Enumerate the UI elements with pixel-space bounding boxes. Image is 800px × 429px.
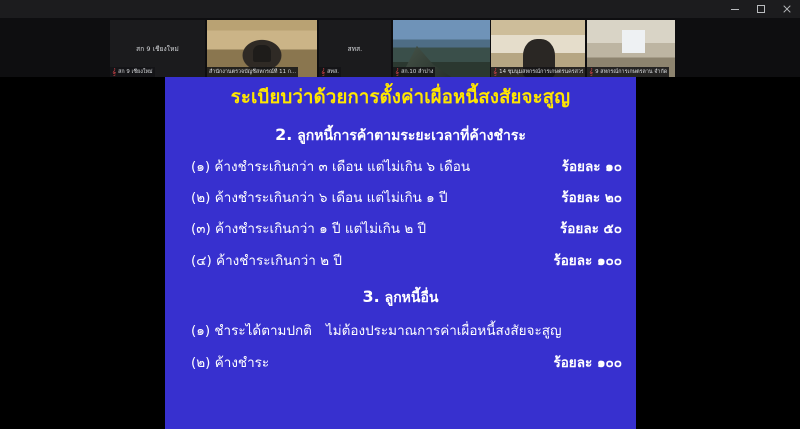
- mic-muted-icon: 𝄞: [589, 69, 593, 76]
- section-heading-text: ลูกหนี้อื่น: [385, 290, 439, 306]
- section-number: 3.: [363, 287, 380, 306]
- participant-tile[interactable]: สก 9 เชียงใหม่ 𝄞 สก 9 เชียงใหม่: [110, 20, 205, 77]
- minimize-icon[interactable]: [722, 0, 748, 18]
- presentation-slide: ระเบียบว่าด้วยการตั้งค่าเผื่อหนี้สงสัยจะ…: [165, 77, 636, 429]
- mic-muted-icon: 𝄞: [493, 69, 497, 76]
- item-rate: ร้อยละ ๑๐: [562, 159, 622, 175]
- participant-name-badge: 𝄞 สก.10 ลำปาง: [393, 67, 435, 77]
- section-number: 2.: [275, 125, 292, 144]
- participant-display-name: สทส.: [348, 44, 363, 54]
- mic-muted-icon: 𝄞: [321, 69, 325, 76]
- participant-name-badge: 𝄞 9 สหกรณ์การเกษตรลาน จำกัด: [587, 67, 669, 77]
- participant-tile[interactable]: 𝄞 9 สหกรณ์การเกษตรลาน จำกัด: [587, 20, 675, 77]
- participant-name-badge: 𝄞 สก 9 เชียงใหม่: [110, 67, 155, 77]
- slide-list-item: (๑) ชำระได้ตามปกติ ไม่ต้องประมาณการค่าเผ…: [165, 323, 636, 339]
- participant-name-badge: 𝄞 14 ชุมนุมสหกรณ์การเกษตรนครสวรรค์: [491, 67, 585, 77]
- section-heading-text: ลูกหนี้การค้าตามระยะเวลาที่ค้างชำระ: [297, 128, 526, 144]
- shared-screen-stage: ระเบียบว่าด้วยการตั้งค่าเผื่อหนี้สงสัยจะ…: [0, 77, 800, 429]
- close-icon[interactable]: [774, 0, 800, 18]
- participant-name-badge: สำนักงานตรวจบัญชีสหกรณ์ที่ 11 ก...: [207, 67, 298, 77]
- slide-list-item: (๓) ค้างชำระเกินกว่า ๑ ปี แต่ไม่เกิน ๒ ป…: [165, 221, 636, 237]
- slide-section-body: (๑) ชำระได้ตามปกติ ไม่ต้องประมาณการค่าเผ…: [165, 323, 636, 371]
- mic-muted-icon: 𝄞: [395, 69, 399, 76]
- slide-list-item: (๒) ค้างชำระ ร้อยละ ๑๐๐: [165, 355, 636, 371]
- slide-title: ระเบียบว่าด้วยการตั้งค่าเผื่อหนี้สงสัยจะ…: [165, 87, 636, 108]
- participant-name-badge: 𝄞 สทส.: [319, 67, 341, 77]
- participant-label: สก 9 เชียงใหม่: [118, 68, 152, 76]
- participant-label: สำนักงานตรวจบัญชีสหกรณ์ที่ 11 ก...: [209, 68, 296, 76]
- slide-section-heading: 3. ลูกหนี้อื่น: [165, 287, 636, 307]
- slide-list-item: (๒) ค้างชำระเกินกว่า ๖ เดือน แต่ไม่เกิน …: [165, 190, 636, 206]
- participant-label: 9 สหกรณ์การเกษตรลาน จำกัด: [595, 68, 667, 76]
- mic-muted-icon: 𝄞: [112, 69, 116, 76]
- window-titlebar: [0, 0, 800, 18]
- participant-tile[interactable]: 𝄞 14 ชุมนุมสหกรณ์การเกษตรนครสวรรค์: [491, 20, 585, 77]
- item-rate: ร้อยละ ๑๐๐: [553, 253, 622, 269]
- participant-tile-active-speaker[interactable]: สำนักงานตรวจบัญชีสหกรณ์ที่ 11 ก...: [207, 20, 317, 77]
- participant-label: 14 ชุมนุมสหกรณ์การเกษตรนครสวรรค์: [499, 68, 583, 76]
- item-rate: ร้อยละ ๒๐: [561, 190, 622, 206]
- slide-list-item: (๑) ค้างชำระเกินกว่า ๓ เดือน แต่ไม่เกิน …: [165, 159, 636, 175]
- item-description: (๑) ชำระได้ตามปกติ: [191, 323, 312, 339]
- participant-label: สก.10 ลำปาง: [401, 68, 433, 76]
- item-rate: ไม่ต้องประมาณการค่าเผื่อหนี้สงสัยจะสูญ: [326, 323, 562, 339]
- item-description: (๑) ค้างชำระเกินกว่า ๓ เดือน แต่ไม่เกิน …: [191, 159, 470, 175]
- slide-list-item: (๔) ค้างชำระเกินกว่า ๒ ปี ร้อยละ ๑๐๐: [165, 253, 636, 269]
- participant-filmstrip: สก 9 เชียงใหม่ 𝄞 สก 9 เชียงใหม่ สำนักงาน…: [0, 18, 800, 77]
- item-description: (๒) ค้างชำระเกินกว่า ๖ เดือน แต่ไม่เกิน …: [191, 190, 448, 206]
- participant-label: สทส.: [327, 68, 339, 76]
- item-description: (๒) ค้างชำระ: [191, 355, 269, 371]
- item-rate: ร้อยละ ๕๐: [560, 221, 622, 237]
- participant-display-name: สก 9 เชียงใหม่: [136, 44, 179, 54]
- participant-tile[interactable]: สทส. 𝄞 สทส.: [319, 20, 391, 77]
- slide-section-heading: 2. ลูกหนี้การค้าตามระยะเวลาที่ค้างชำระ: [165, 125, 636, 145]
- item-description: (๓) ค้างชำระเกินกว่า ๑ ปี แต่ไม่เกิน ๒ ป…: [191, 221, 426, 237]
- maximize-icon[interactable]: [748, 0, 774, 18]
- participant-tile[interactable]: 𝄞 สก.10 ลำปาง: [393, 20, 490, 77]
- meeting-window: สก 9 เชียงใหม่ 𝄞 สก 9 เชียงใหม่ สำนักงาน…: [0, 0, 800, 429]
- item-description: (๔) ค้างชำระเกินกว่า ๒ ปี: [191, 253, 342, 269]
- item-rate: ร้อยละ ๑๐๐: [553, 355, 622, 371]
